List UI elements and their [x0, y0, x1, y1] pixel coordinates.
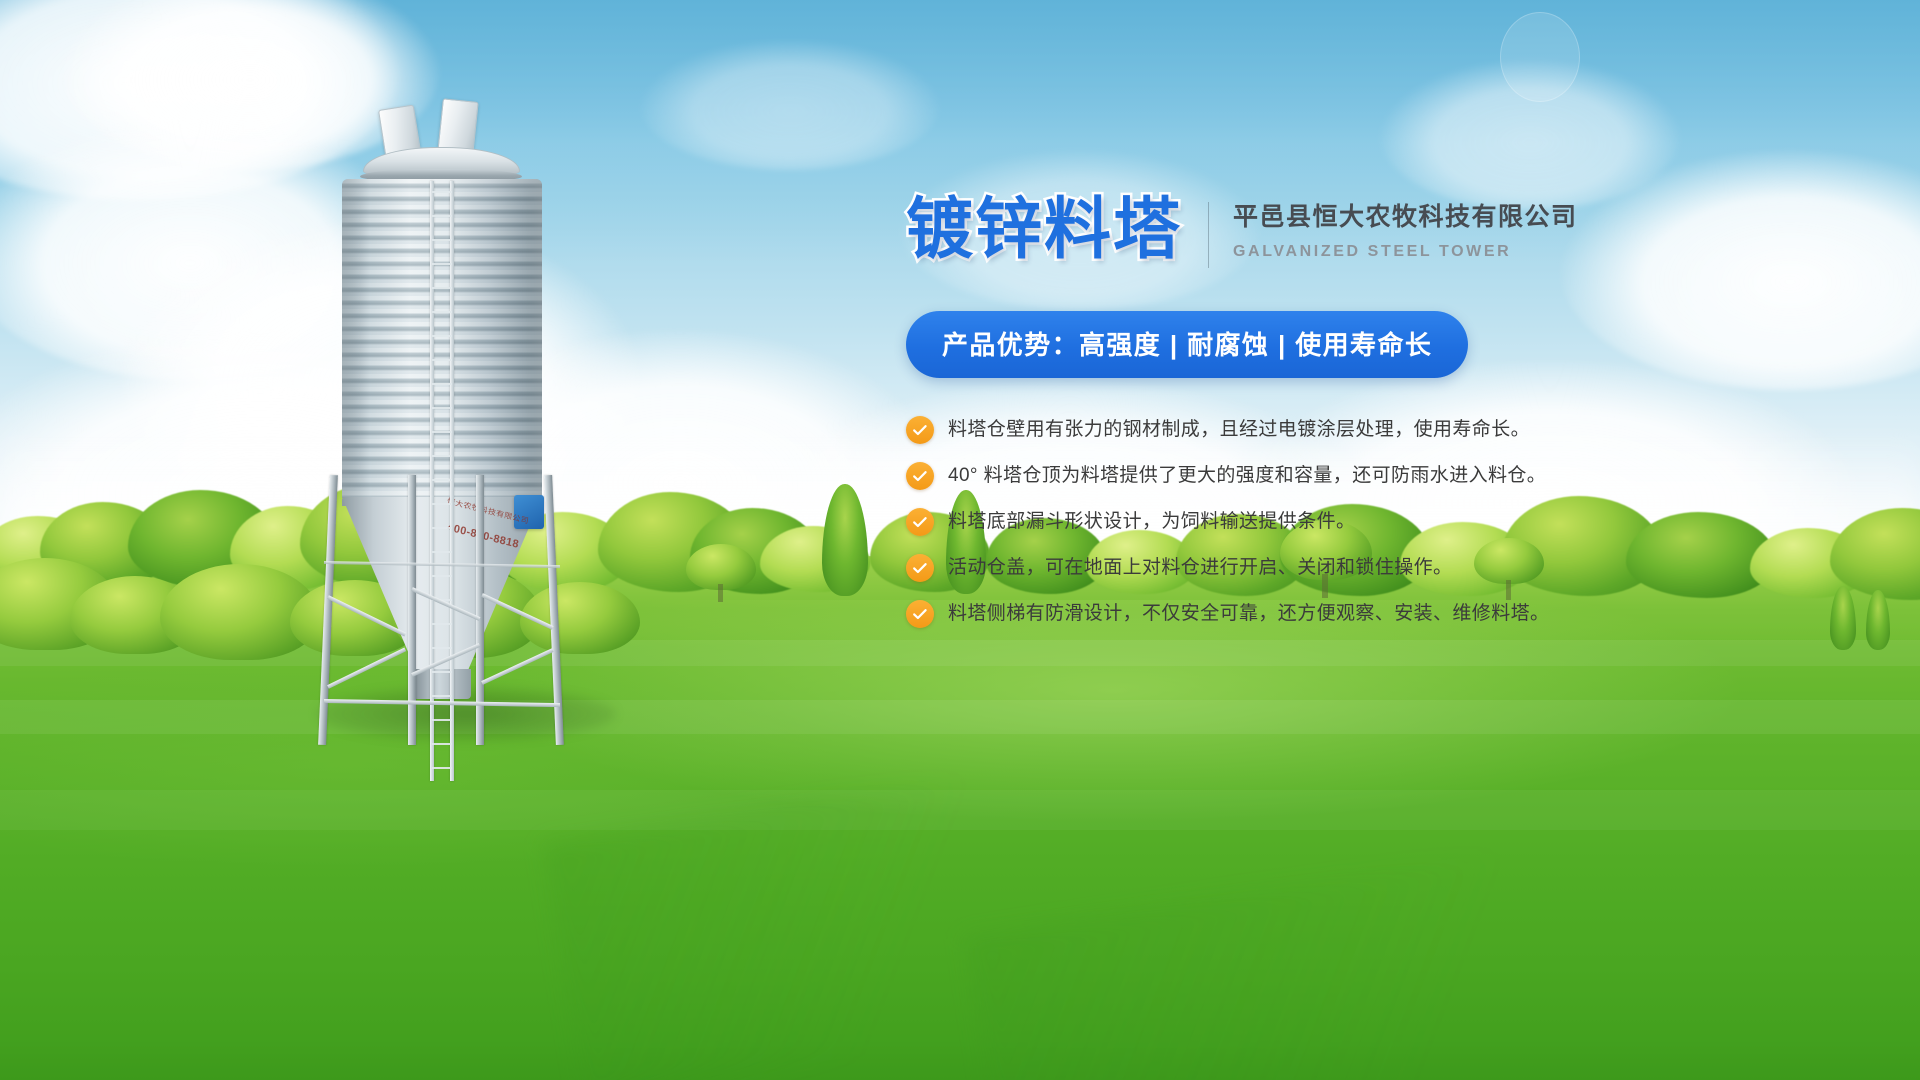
feature-text: 活动仓盖，可在地面上对料仓进行开启、关闭和锁住操作。	[948, 556, 1452, 581]
check-icon	[906, 600, 934, 628]
title-divider	[1208, 202, 1209, 268]
company-name: 平邑县恒大农牧科技有限公司	[1233, 202, 1578, 233]
silo-cross-brace	[327, 648, 406, 689]
list-item: 料塔底部漏斗形状设计，为饲料输送提供条件。	[906, 508, 1606, 536]
page-title: 镀锌料塔	[906, 196, 1182, 263]
check-icon	[906, 508, 934, 536]
feature-list: 料塔仓壁用有张力的钢材制成，且经过电镀涂层处理，使用寿命长。 40° 料塔仓顶为…	[906, 416, 1606, 628]
copy-panel: 镀锌料塔 平邑县恒大农牧科技有限公司 GALVANIZED STEEL TOWE…	[906, 196, 1606, 628]
company-block: 平邑县恒大农牧科技有限公司 GALVANIZED STEEL TOWER	[1233, 196, 1578, 261]
ladder-rail	[430, 181, 434, 781]
check-icon	[906, 554, 934, 582]
list-item: 料塔侧梯有防滑设计，不仅安全可靠，还方便观察、安装、维修料塔。	[906, 600, 1606, 628]
company-subtitle: GALVANIZED STEEL TOWER	[1233, 243, 1578, 261]
list-item: 40° 料塔仓顶为料塔提供了更大的强度和容量，还可防雨水进入料仓。	[906, 462, 1606, 490]
silo-side-ladder	[430, 181, 454, 781]
feature-text: 40° 料塔仓顶为料塔提供了更大的强度和容量，还可防雨水进入料仓。	[948, 464, 1546, 489]
check-icon	[906, 462, 934, 490]
lawn-conifer	[1866, 590, 1890, 658]
galvanized-feed-silo: 恒大农牧科技有限公司 400-850-8818	[300, 95, 630, 755]
advantage-badge: 产品优势：高强度 | 耐腐蚀 | 使用寿命长	[906, 311, 1468, 378]
list-item: 料塔仓壁用有张力的钢材制成，且经过电镀涂层处理，使用寿命长。	[906, 416, 1606, 444]
sun-circle-icon	[1500, 12, 1580, 102]
feature-text: 料塔底部漏斗形状设计，为饲料输送提供条件。	[948, 510, 1355, 535]
title-row: 镀锌料塔 平邑县恒大农牧科技有限公司 GALVANIZED STEEL TOWE…	[906, 196, 1606, 268]
lawn-conifer	[1830, 586, 1856, 658]
lawn-tree	[686, 544, 756, 600]
feature-text: 料塔侧梯有防滑设计，不仅安全可靠，还方便观察、安装、维修料塔。	[948, 602, 1549, 627]
check-icon	[906, 416, 934, 444]
product-banner: 恒大农牧科技有限公司 400-850-8818	[0, 0, 1920, 1080]
ladder-rail	[450, 181, 454, 781]
feature-text: 料塔仓壁用有张力的钢材制成，且经过电镀涂层处理，使用寿命长。	[948, 418, 1530, 443]
silo-cross-brace	[481, 648, 553, 685]
list-item: 活动仓盖，可在地面上对料仓进行开启、关闭和锁住操作。	[906, 554, 1606, 582]
